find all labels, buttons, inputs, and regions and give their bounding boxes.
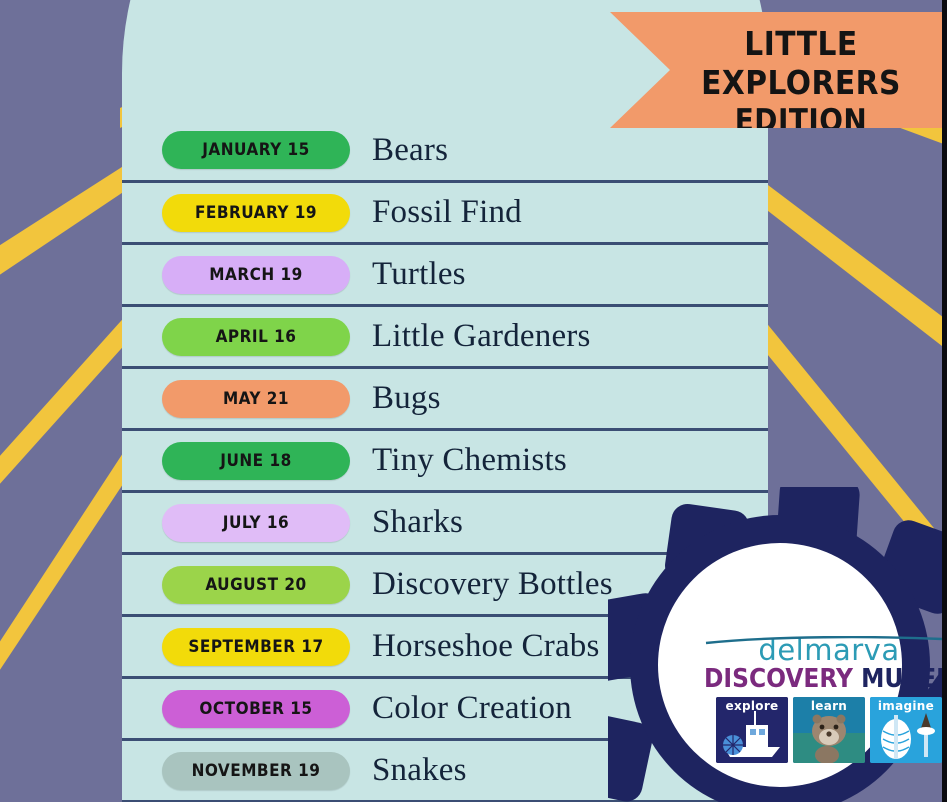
- table-row[interactable]: JUNE 18 Tiny Chemists: [122, 431, 768, 493]
- poster-canvas: 2026 JANUARY 15 Bears FEBRUARY 19 Fossil…: [0, 0, 947, 802]
- program-title: Tiny Chemists: [372, 442, 567, 479]
- date-badge[interactable]: FEBRUARY 19: [162, 194, 350, 232]
- program-title: Bears: [372, 132, 448, 169]
- date-badge[interactable]: SEPTEMBER 17: [162, 628, 350, 666]
- table-row[interactable]: MARCH 19 Turtles: [122, 245, 768, 307]
- date-badge[interactable]: JUNE 18: [162, 442, 350, 480]
- logo-museum: MUSEUM: [853, 664, 947, 694]
- right-edge-border: [942, 0, 947, 802]
- logo-tiles: explore learn: [704, 697, 947, 763]
- logo-brand-main: DISCOVERY MUSEUM: [704, 665, 947, 693]
- logo-discovery: DISCOVERY: [704, 664, 853, 694]
- poster-title: 2026: [122, 0, 768, 4]
- program-title: Discovery Bottles: [372, 566, 613, 603]
- tile-label: imagine: [870, 699, 942, 713]
- edition-banner-line1: LITTLE EXPLORERS: [665, 24, 937, 102]
- program-title: Sharks: [372, 504, 463, 541]
- date-badge[interactable]: JULY 16: [162, 504, 350, 542]
- date-badge[interactable]: JANUARY 15: [162, 131, 350, 169]
- table-row[interactable]: MAY 21 Bugs: [122, 369, 768, 431]
- museum-logo[interactable]: delmarva DISCOVERY MUSEUM: [608, 487, 947, 802]
- program-title: Turtles: [372, 256, 466, 293]
- program-title: Color Creation: [372, 690, 572, 727]
- program-title: Fossil Find: [372, 194, 522, 231]
- tile-label: learn: [793, 699, 865, 713]
- tile-explore: explore: [716, 697, 788, 763]
- date-badge[interactable]: OCTOBER 15: [162, 690, 350, 728]
- tile-label: explore: [716, 699, 788, 713]
- table-row[interactable]: JANUARY 15 Bears: [122, 120, 768, 183]
- date-badge[interactable]: MARCH 19: [162, 256, 350, 294]
- tile-imagine: imagine: [870, 697, 942, 763]
- program-title: Horseshoe Crabs: [372, 628, 600, 665]
- title-year: 2026: [193, 0, 697, 4]
- program-title: Bugs: [372, 380, 441, 417]
- date-badge[interactable]: AUGUST 20: [162, 566, 350, 604]
- date-badge[interactable]: APRIL 16: [162, 318, 350, 356]
- tile-learn: learn: [793, 697, 865, 763]
- table-row[interactable]: FEBRUARY 19 Fossil Find: [122, 183, 768, 245]
- logo-wordmark: delmarva DISCOVERY MUSEUM: [704, 635, 947, 763]
- program-title: Little Gardeners: [372, 318, 591, 355]
- program-title: Snakes: [372, 752, 467, 789]
- table-row[interactable]: APRIL 16 Little Gardeners: [122, 307, 768, 369]
- date-badge[interactable]: NOVEMBER 19: [162, 752, 350, 790]
- edition-banner-text: LITTLE EXPLORERS EDITION: [610, 24, 937, 141]
- date-badge[interactable]: MAY 21: [162, 380, 350, 418]
- swoosh-icon: [704, 636, 944, 645]
